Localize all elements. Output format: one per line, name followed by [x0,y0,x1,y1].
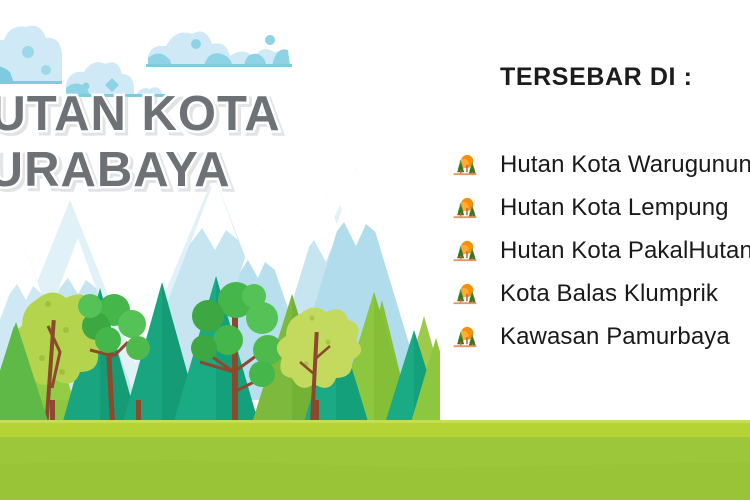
list-item-label: Hutan Kota PakalHutan [500,237,750,265]
list-item-label: Kota Balas Klumprik [500,280,718,308]
panel-heading: TERSEBAR DI : [500,63,693,92]
list-item[interactable]: Kawasan Pamurbaya [440,315,750,358]
park-trees-icon [452,324,478,350]
park-trees-icon [452,281,478,307]
list-item-label: Kawasan Pamurbaya [500,323,730,351]
list-item[interactable]: Kota Balas Klumprik [440,272,750,315]
list-item[interactable]: Hutan Kota Lempung [440,186,750,229]
list-item[interactable]: Hutan Kota PakalHutan [440,229,750,272]
list-item-label: Hutan Kota Lempung [500,194,729,222]
list-item[interactable]: Hutan Kota Warugunung [440,143,750,186]
list-item-label: Hutan Kota Warugunung [500,151,750,179]
park-trees-icon [452,238,478,264]
locations-panel: TERSEBAR DI : Hutan Kota War [440,0,750,500]
locations-list: Hutan Kota Warugunung Hutan [440,143,750,358]
poster-canvas: HUTAN KOTA SURABAYA TERSEBAR DI : [0,0,750,500]
park-trees-icon [452,195,478,221]
park-trees-icon [452,152,478,178]
